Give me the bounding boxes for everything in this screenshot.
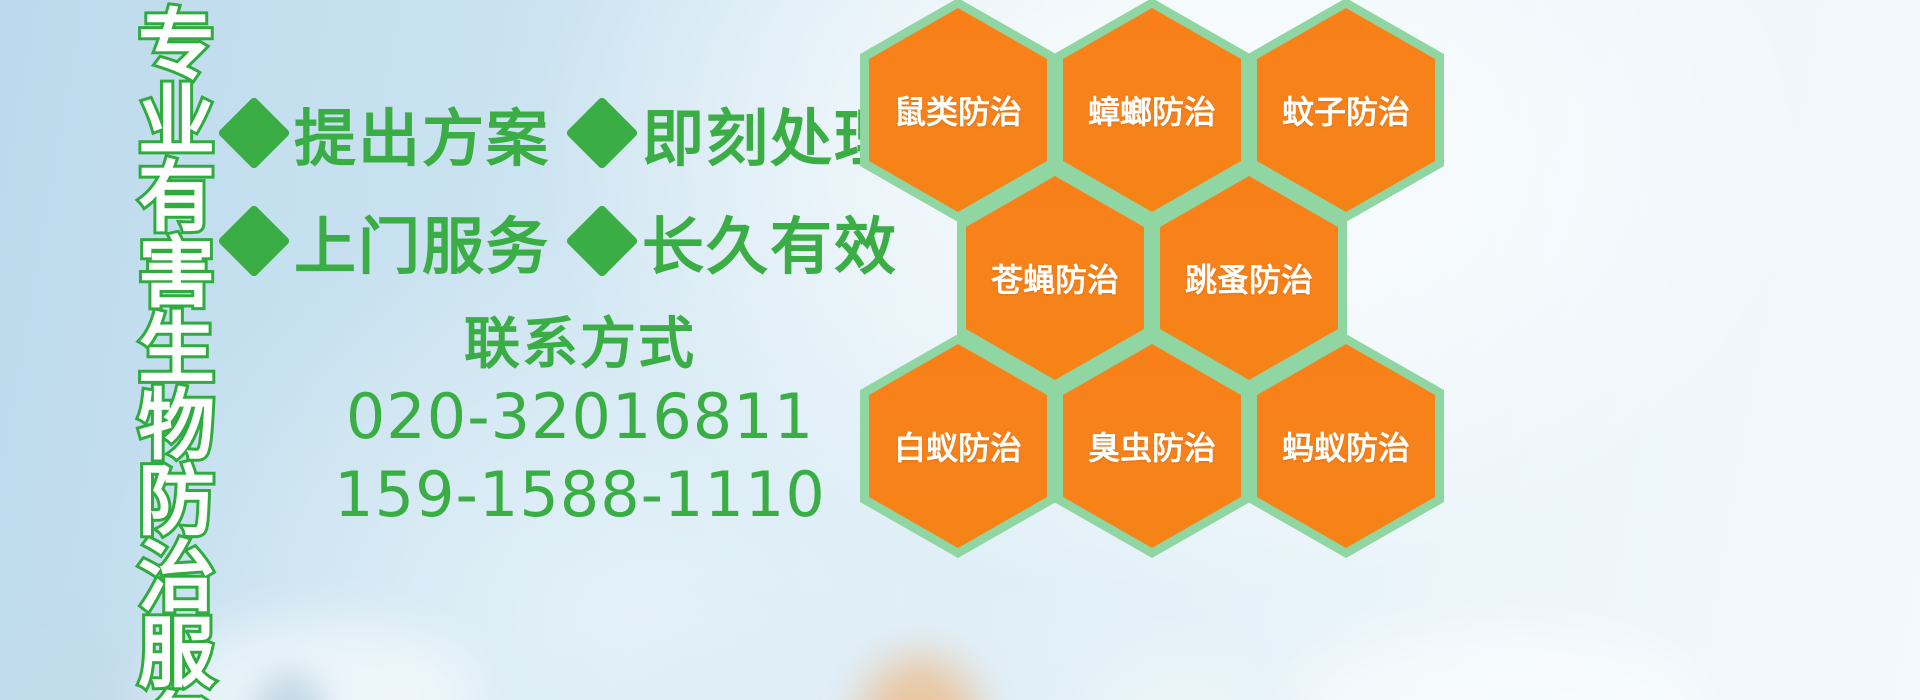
background-blur-blob: [255, 672, 325, 700]
diamond-icon: [565, 96, 639, 170]
diamond-icon: [565, 204, 639, 278]
feature-row-2: 上门服务 长久有效: [228, 196, 898, 286]
background-blur-blob: [600, 630, 860, 700]
hex-label: 白蚁防治: [860, 334, 1056, 558]
background-blur-blob: [1080, 650, 1260, 700]
feature-item-label: 提出方案: [294, 88, 550, 178]
diamond-icon: [217, 96, 291, 170]
contact-block: 联系方式 020-32016811 159-1588-1110: [230, 312, 830, 534]
hex-service-ant[interactable]: 蚂蚁防治: [1248, 334, 1444, 558]
phone-number-mobile[interactable]: 159-1588-1110: [330, 456, 830, 534]
contact-title: 联系方式: [330, 312, 830, 378]
promo-banner: 专业有害生物防治服务 提出方案 即刻处理 上门服务 长久有效 联系方式 020-…: [0, 0, 1920, 700]
feature-row-1: 提出方案 即刻处理: [228, 88, 898, 178]
service-honeycomb: 鼠类防治 蟑螂防治 蚊子防治 苍蝇防治 跳蚤防治 白蚁防治: [848, 0, 1468, 552]
background-blur-blob: [860, 656, 980, 700]
hex-service-bedbug[interactable]: 臭虫防治: [1054, 334, 1250, 558]
feature-item-label: 上门服务: [294, 196, 550, 286]
background-blur-blob: [1290, 626, 1710, 700]
hex-label: 臭虫防治: [1054, 334, 1250, 558]
phone-number-primary[interactable]: 020-32016811: [330, 378, 830, 456]
diamond-icon: [217, 204, 291, 278]
vertical-headline: 专业有害生物防治服务: [104, 4, 208, 604]
hex-service-termite[interactable]: 白蚁防治: [860, 334, 1056, 558]
hex-label: 蚂蚁防治: [1248, 334, 1444, 558]
